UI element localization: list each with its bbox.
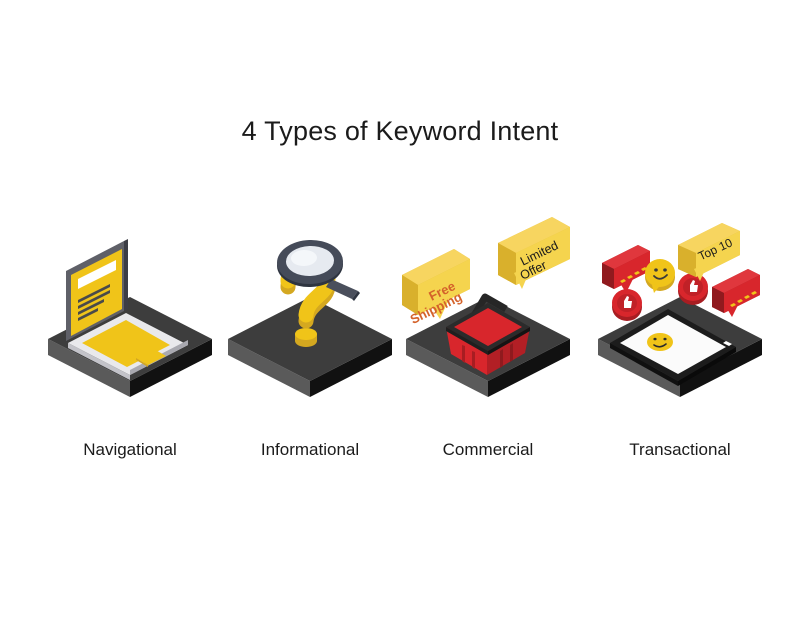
laptop-illustration (30, 215, 230, 415)
shopping-basket-icon: Free Shipping Limited Offer (388, 215, 588, 415)
tablet-reviews-icon: Top 10 (580, 215, 780, 415)
scene-label-commercial: Commercial (388, 440, 588, 460)
page-title: 4 Types of Keyword Intent (0, 116, 800, 147)
scene-label-informational: Informational (210, 440, 410, 460)
speech-bubble-top-10: Top 10 (678, 223, 740, 281)
scene-transactional: Top 10 Transactional (580, 215, 780, 475)
commercial-illustration: Free Shipping Limited Offer (388, 215, 588, 415)
scene-navigational: Navigational (30, 215, 230, 475)
star-rating-bubble (712, 269, 760, 317)
smiley-bubble (645, 259, 675, 293)
scene-label-transactional: Transactional (580, 440, 780, 460)
smiley-face (647, 333, 673, 351)
scene-commercial: Free Shipping Limited Offer Commercial (388, 215, 588, 475)
speech-bubble-limited-offer: Limited Offer (498, 217, 570, 289)
thumbs-up-badge (678, 273, 708, 305)
scene-informational: Informational (210, 215, 410, 475)
informational-illustration (210, 215, 410, 415)
laptop-isometric-icon (30, 215, 230, 415)
star-rating-bubble (602, 245, 650, 293)
magnifier-question-mark-icon (210, 215, 410, 415)
thumbs-up-badge (612, 289, 642, 321)
scene-label-navigational: Navigational (30, 440, 230, 460)
transactional-illustration: Top 10 (580, 215, 780, 415)
